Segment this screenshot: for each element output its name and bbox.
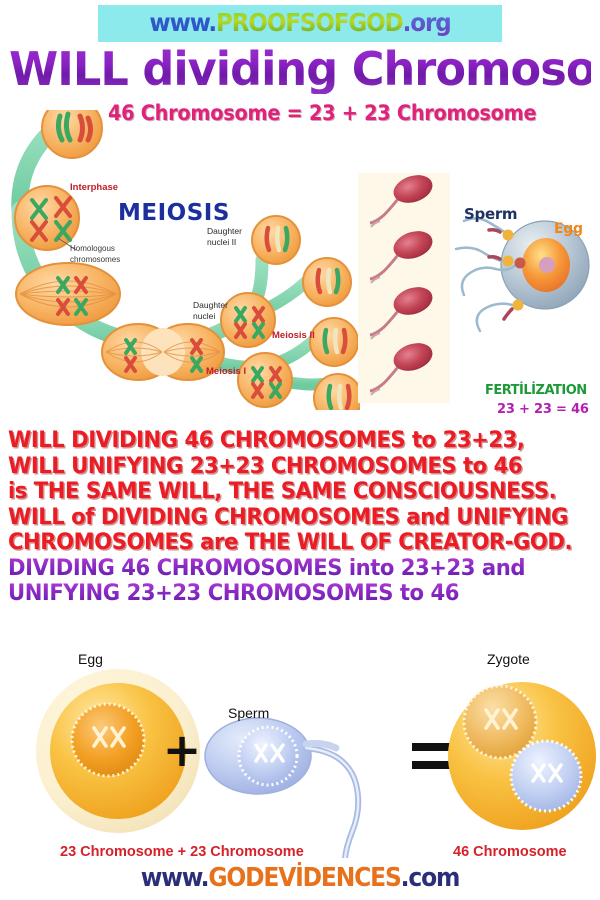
sperm-cell [370, 173, 436, 227]
header-url-name: PROOFSOFGOD [216, 8, 403, 37]
statement-line: is THE SAME WILL, THE SAME CONSCIOUSNESS… [8, 479, 557, 505]
statement-line: WILL of DIVIDING CHROMOSOMES and UNIFYIN… [8, 505, 557, 531]
statement-line: UNIFYING 23+23 CHROMOSOMES to 46 [8, 581, 557, 607]
footer-site-url: www.GODEVİDENCES.com [30, 863, 570, 893]
statement-line: WILL DIVIDING 46 CHROMOSOMES to 23+23, [8, 428, 557, 454]
homologous-line-1: Homologous [70, 244, 115, 253]
fertilization-illustration [450, 173, 600, 373]
sperm-cell-large [205, 718, 358, 858]
meiosis-label-meiosis-ii: Meiosis II [272, 330, 315, 341]
plus-operator: + [163, 723, 202, 777]
zygote-cell [448, 682, 596, 830]
fertilization-equation: 23 + 23 = 46 [497, 402, 589, 417]
meiosis-label-meiosis-i: Meiosis I [206, 366, 246, 377]
statement-text-block: WILL DIVIDING 46 CHROMOSOMES to 23+23, W… [0, 428, 600, 607]
meiosis-illustration [0, 110, 360, 410]
header-url-www: www. [149, 8, 216, 37]
statement-line: CHROMOSOMES are THE WILL OF CREATOR-GOD. [8, 530, 557, 556]
meiosis-label-homologous-chromosomes: Homologous chromosomes [70, 243, 120, 265]
zygote-caption-left: 23 Chromosome + 23 Chromosome [60, 844, 304, 860]
statement-line: DIVIDING 46 CHROMOSOMES into 23+23 and [8, 556, 557, 582]
daughter-nuclei-line-2: nuclei [193, 311, 215, 321]
meiosis-cell-haploid-2 [303, 258, 351, 306]
page-title: WILL dividing Chromosomes [9, 44, 591, 94]
sperm-cell [370, 338, 436, 395]
header-site-url: www.PROOFSOFGOD.org [24, 8, 576, 37]
meiosis-cell-homologous [15, 186, 79, 250]
equals-operator [412, 743, 450, 769]
zygote-diagram-label-egg: Egg [78, 651, 103, 667]
meiosis-cell-daughter-nucleus-b [238, 353, 292, 407]
fertilization-heading: FERTİLİZATION [485, 383, 587, 398]
sperm-cell-approaching [477, 300, 524, 332]
daughter-nuclei-ii-line-2: nuclei II [207, 237, 236, 247]
footer-url-www: www. [141, 863, 209, 893]
statement-line: WILL UNIFYING 23+23 CHROMOSOMES to 46 [8, 454, 557, 480]
footer-url-name: GODEVİDENCES [208, 863, 400, 893]
homologous-line-2: chromosomes [70, 255, 120, 264]
sperm-photo-strip [358, 173, 450, 403]
fertilization-label-egg: Egg [554, 221, 583, 237]
daughter-nuclei-line-1: Daughter [193, 300, 228, 310]
meiosis-cell-haploid-1 [252, 216, 300, 264]
sperm-strip-illustration [358, 173, 450, 403]
zygote-diagram-label-sperm: Sperm [228, 705, 269, 721]
meiosis-label-daughter-nuclei-ii: Daughter nuclei II [207, 226, 242, 248]
sperm-cell [370, 226, 436, 283]
header-url-tld: .org [403, 8, 451, 37]
meiosis-cell-haploid-3 [310, 318, 358, 366]
meiosis-diagram [0, 110, 360, 410]
fertilization-equation-diagram: + [0, 648, 600, 858]
zygote-caption-right: 46 Chromosome [453, 844, 567, 860]
meiosis-label-daughter-nuclei: Daughter nuclei [193, 300, 228, 322]
meiosis-heading: MEIOSIS [118, 200, 230, 226]
fertilization-diagram: Sperm Egg FERTİLİZATION 23 + 23 = 46 [450, 173, 600, 428]
footer-url-tld: .com [401, 863, 460, 893]
zygote-illustration: + [0, 648, 600, 858]
meiosis-cell-interphase [42, 110, 102, 158]
meiosis-cell-daughter-nucleus-a [221, 293, 275, 347]
fertilization-label-sperm: Sperm [464, 205, 517, 223]
meiosis-label-interphase: Interphase [70, 182, 118, 193]
sperm-cell [370, 282, 436, 339]
sperm-tail [306, 748, 358, 858]
daughter-nuclei-ii-line-1: Daughter [207, 226, 242, 236]
meiosis-cell-metaphase-i [16, 263, 120, 325]
zygote-diagram-label-zygote: Zygote [487, 651, 530, 667]
